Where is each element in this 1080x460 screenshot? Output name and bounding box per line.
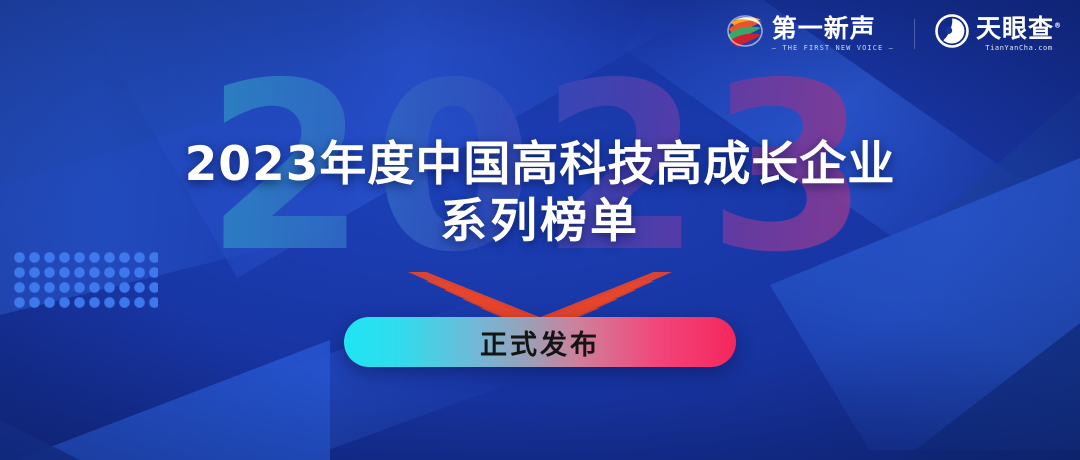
tianyancha-text-block: 天眼查® TianYanCha.com <box>976 16 1062 52</box>
first-voice-text-block: 第一新声 — THE FIRST NEW VOICE — <box>772 16 894 52</box>
logo-bar: 第一新声 — THE FIRST NEW VOICE — 天眼查® TianYa… <box>725 14 1062 53</box>
trademark-symbol: ® <box>1054 21 1062 29</box>
first-voice-tagline: — THE FIRST NEW VOICE — <box>772 45 894 52</box>
logo-divider <box>914 19 915 49</box>
tianyancha-tagline: TianYanCha.com <box>976 45 1062 52</box>
first-voice-swirl-icon <box>725 14 765 53</box>
tianyancha-name-text: 天眼查 <box>976 14 1054 43</box>
tianyancha-eye-icon <box>935 14 969 53</box>
bg-shape-bottom-left-dark-corner <box>0 400 120 460</box>
release-status-label: 正式发布 <box>480 323 600 362</box>
logo-first-voice[interactable]: 第一新声 — THE FIRST NEW VOICE — <box>725 14 894 53</box>
release-status-badge[interactable]: 正式发布 <box>344 317 736 367</box>
first-voice-name: 第一新声 <box>772 16 894 41</box>
tianyancha-name: 天眼查® <box>976 16 1062 41</box>
announcement-banner: 2023 2023年度中国高科技高成长企业 系列榜单 正式发布 第一新 <box>0 0 1080 460</box>
bg-shape-right-triangle-lower <box>850 300 1080 460</box>
bg-shape-bottom-left-triangle <box>0 340 330 460</box>
page-title: 2023年度中国高科技高成长企业 系列榜单 <box>0 136 1080 251</box>
page-title-line-2: 系列榜单 <box>0 193 1080 250</box>
logo-tianyancha[interactable]: 天眼查® TianYanCha.com <box>935 14 1062 53</box>
page-title-line-1: 2023年度中国高科技高成长企业 <box>0 136 1080 193</box>
